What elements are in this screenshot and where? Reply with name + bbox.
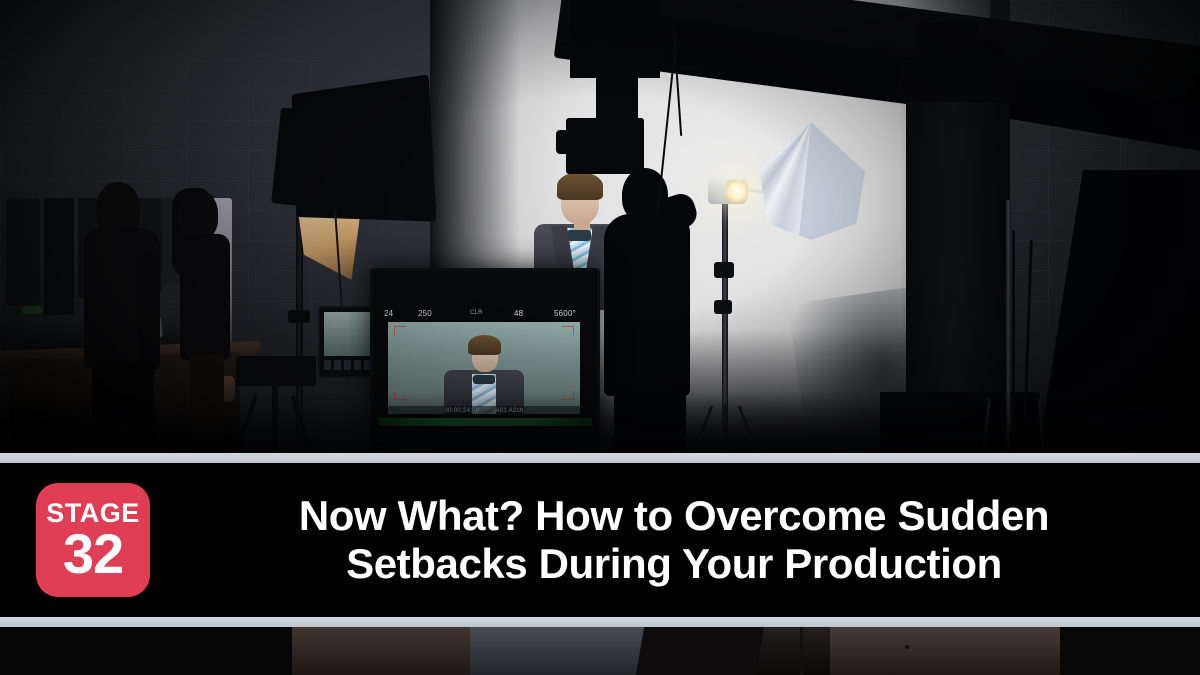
studio-photo: 24 250 CLR 48 5600° 00:00:24:08 A01 A2ch (0, 0, 1200, 455)
floor-cable (800, 627, 803, 675)
garment (44, 198, 74, 318)
light-stand-clamp (714, 262, 734, 278)
studio-floor-shadow-right (1060, 627, 1200, 675)
image-canvas: 24 250 CLR 48 5600° 00:00:24:08 A01 A2ch (0, 0, 1200, 675)
overhead-rig-wheel (962, 40, 1004, 76)
osd-frame-rate: 24 (378, 309, 418, 318)
stage32-logo[interactable]: STAGE 32 (36, 483, 150, 597)
camera-operator-body (604, 214, 690, 396)
logo-brand-number: 32 (63, 528, 123, 580)
studio-floor-shadow (0, 392, 1200, 455)
headline-line-2: Setbacks During Your Production (176, 540, 1172, 588)
monitor-osd-readout: 24 250 CLR 48 5600° (378, 306, 592, 320)
monitor-subject-bow-tie (473, 375, 495, 384)
small-preview-monitor-buttons[interactable] (324, 360, 372, 370)
secondary-camera-body (236, 356, 316, 386)
softbox-light (292, 74, 437, 221)
photo-bottom-strip (0, 627, 1200, 675)
strobe-lamp-bulb (726, 180, 748, 202)
crane-camera-lens (556, 130, 584, 154)
crew-member-2-head (178, 190, 218, 240)
banner-bottom-rule (0, 617, 1200, 627)
small-preview-monitor-screen (324, 312, 372, 356)
osd-filter: CLR (470, 310, 514, 316)
studio-floor-center-object (470, 627, 660, 675)
prop-table-green-item (22, 306, 42, 314)
crew-member-2-body (180, 234, 230, 360)
subject-hair (557, 172, 603, 200)
subject-bow-tie (567, 230, 591, 241)
floor-mark (905, 645, 909, 649)
article-headline: Now What? How to Overcome Sudden Setback… (150, 492, 1200, 588)
osd-color-temp: 5600° (554, 309, 592, 318)
banner-top-rule (0, 453, 1200, 463)
softbox-stand-knob (288, 310, 310, 323)
garment (6, 198, 40, 306)
framing-guide-corner (562, 326, 574, 335)
framing-guide-corner (394, 326, 406, 335)
studio-floor-shadow-left (0, 627, 292, 675)
studio-floor-dark-object (636, 627, 764, 675)
title-banner: STAGE 32 Now What? How to Overcome Sudde… (0, 463, 1200, 617)
osd-shutter: 250 (418, 309, 470, 318)
crew-member-1-arm (138, 252, 160, 372)
monitor-subject-hair (468, 335, 501, 355)
osd-aperture: 48 (514, 309, 554, 318)
headline-line-1: Now What? How to Overcome Sudden (299, 492, 1049, 539)
studio-floor-left (290, 627, 470, 675)
light-stand-clamp (714, 300, 732, 314)
studio-floor-right (830, 627, 1060, 675)
